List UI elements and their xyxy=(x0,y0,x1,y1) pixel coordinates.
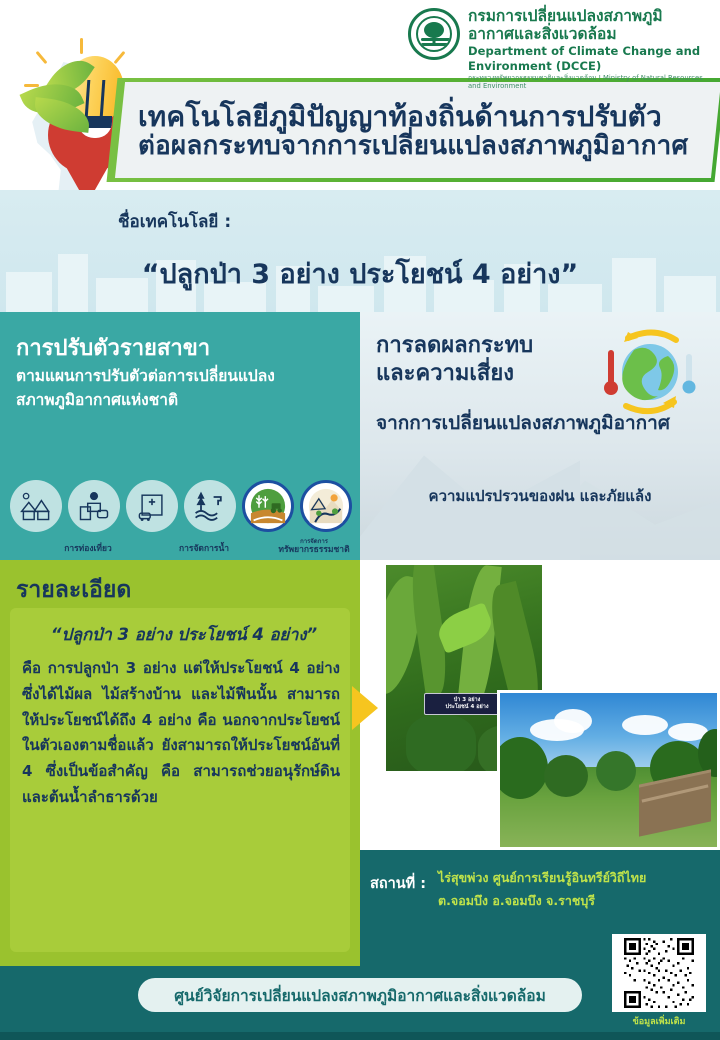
sector-label-water-management: การจัดการน้ำ xyxy=(158,544,250,554)
location-line2: ต.จอมบึง อ.จอมบึง จ.ราชบุรี xyxy=(438,889,713,912)
adaptation-subheading-line2: สภาพภูมิอากาศแห่งชาติ xyxy=(16,388,352,412)
water-management-icon xyxy=(192,488,228,524)
mitigation-heading-line1: การลดผลกระทบ xyxy=(376,333,533,358)
footer-organization: ศูนย์วิจัยการเปลี่ยนแปลงสภาพภูมิอากาศและ… xyxy=(138,978,582,1012)
arrow-right-icon xyxy=(352,686,378,730)
agency-logo-block: กรมการเปลี่ยนแปลงสภาพภูมิอากาศและสิ่งแวด… xyxy=(408,6,708,64)
agriculture-icon xyxy=(250,488,286,524)
adaptation-panel: การปรับตัวรายสาขา ตามแผนการปรับตัวต่อการ… xyxy=(0,312,360,560)
photo-sign-line2: ประโยชน์ 4 อย่าง xyxy=(445,704,488,711)
page-title-line2: ต่อผลกระทบจากการเปลี่ยนแปลงสภาพภูมิอากาศ xyxy=(138,132,708,161)
details-section: รายละเอียด “ปลูกป่า 3 อย่าง ประโยชน์ 4 อ… xyxy=(0,560,360,960)
sector-label-tourism: การท่องเที่ยว xyxy=(42,544,134,554)
technology-name: “ปลูกป่า 3 อย่าง ประโยชน์ 4 อย่าง” xyxy=(0,252,720,295)
sector-icon-public-health[interactable] xyxy=(126,480,178,532)
dcce-seal-icon xyxy=(408,8,460,60)
sector-icon-agriculture[interactable] xyxy=(242,480,294,532)
details-quote: “ปลูกป่า 3 อย่าง ประโยชน์ 4 อย่าง” xyxy=(24,622,344,648)
bulb-filament-shape xyxy=(85,80,106,118)
page-title-line1: เทคโนโลยีภูมิปัญญาท้องถิ่นด้านการปรับตัว xyxy=(138,101,708,132)
adaptation-subheading-line1: ตามแผนการปรับตัวต่อการเปลี่ยนแปลง xyxy=(16,364,352,388)
sector-label-natural-resources: การจัดการ ทรัพยากรธรรมชาติ xyxy=(268,538,360,555)
photo-field-deck xyxy=(497,690,720,850)
tourism-icon xyxy=(76,488,112,524)
poster-root: เทคโนโลยีภูมิปัญญาท้องถิ่นด้านการปรับตัว… xyxy=(0,0,720,1040)
poster-header: เทคโนโลยีภูมิปัญญาท้องถิ่นด้านการปรับตัว… xyxy=(0,0,720,190)
mitigation-heading: การลดผลกระทบ และความเสี่ยง xyxy=(376,332,533,388)
mitigation-heading-line2: และความเสี่ยง xyxy=(376,361,514,386)
public-health-icon xyxy=(134,488,170,524)
agency-name-en: Department of Climate Change and Environ… xyxy=(468,44,708,74)
sector-icon-natural-resources[interactable] xyxy=(300,480,352,532)
sector-icon-settlement[interactable] xyxy=(10,480,62,532)
qr-code-icon[interactable] xyxy=(612,934,706,1012)
agency-name-th: กรมการเปลี่ยนแปลงสภาพภูมิอากาศและสิ่งแวด… xyxy=(468,8,708,44)
agency-ministry: กระทรวงทรัพยากรธรรมชาติและสิ่งแวดล้อม I … xyxy=(468,74,708,92)
technology-label: ชื่อเทคโนโลยี : xyxy=(118,208,231,235)
settlement-icon xyxy=(18,488,54,524)
footer-bottom-strip xyxy=(0,1032,720,1040)
globe-thermometer-icon xyxy=(594,324,702,420)
sector-icon-water-management[interactable] xyxy=(184,480,236,532)
risk-text: ความแปรปรวนของฝน และภัยแล้ง xyxy=(360,484,720,508)
location-line1: ไร่สุขพ่วง ศูนย์การเรียนรู้อินทรีย์วิถีไ… xyxy=(438,866,713,889)
natural-resources-icon xyxy=(308,488,344,524)
qr-code-matrix xyxy=(616,938,702,1008)
location-text: ไร่สุขพ่วง ศูนย์การเรียนรู้อินทรีย์วิถีไ… xyxy=(438,866,713,912)
sector-icon-tourism[interactable] xyxy=(68,480,120,532)
qr-caption: ข้อมูลเพิ่มเติม xyxy=(612,1014,706,1028)
location-label: สถานที่ : xyxy=(370,872,426,895)
page-title: เทคโนโลยีภูมิปัญญาท้องถิ่นด้านการปรับตัว… xyxy=(138,88,708,174)
details-title: รายละเอียด xyxy=(16,572,131,608)
photo-sign-line1: ป่า 3 อย่าง xyxy=(454,697,481,704)
adaptation-heading: การปรับตัวรายสาขา xyxy=(16,330,210,365)
footer-green-edge xyxy=(0,960,360,966)
adaptation-subheading: ตามแผนการปรับตัวต่อการเปลี่ยนแปลง สภาพภู… xyxy=(16,364,352,412)
details-body: คือ การปลูกป่า 3 อย่าง แต่ให้ประโยชน์ 4 … xyxy=(22,656,340,811)
mitigation-panel: การลดผลกระทบ และความเสี่ยง จากการเปลี่ยน… xyxy=(360,312,720,560)
